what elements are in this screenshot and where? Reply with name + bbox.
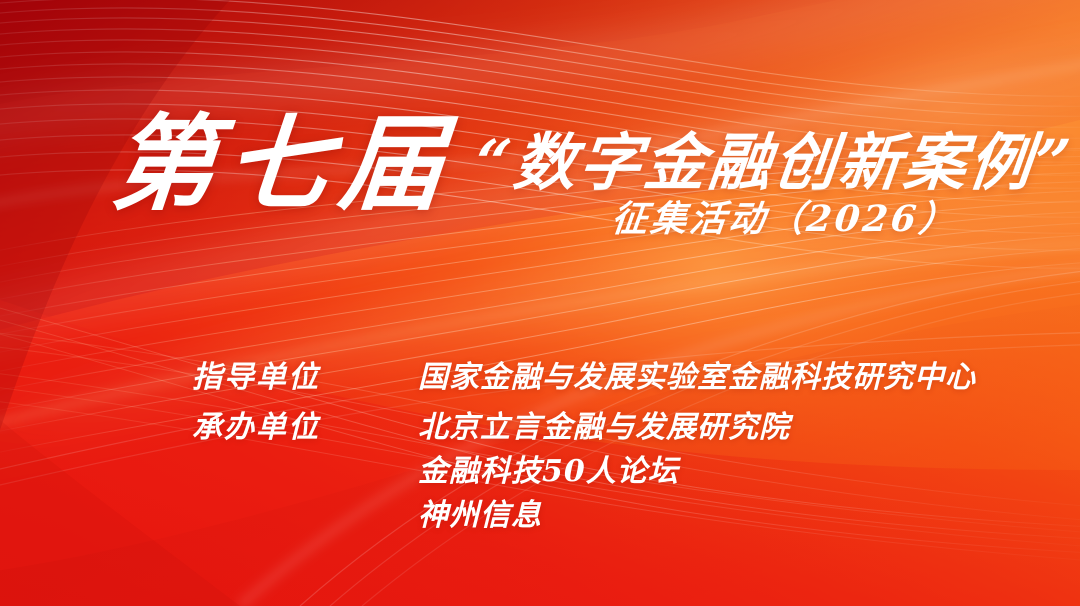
poster-canvas: 第七届 “数字金融创新案例” 征集活动（2026） 指导单位 国家金融与发展实验…: [0, 0, 1080, 606]
background-artwork: [0, 0, 1080, 606]
